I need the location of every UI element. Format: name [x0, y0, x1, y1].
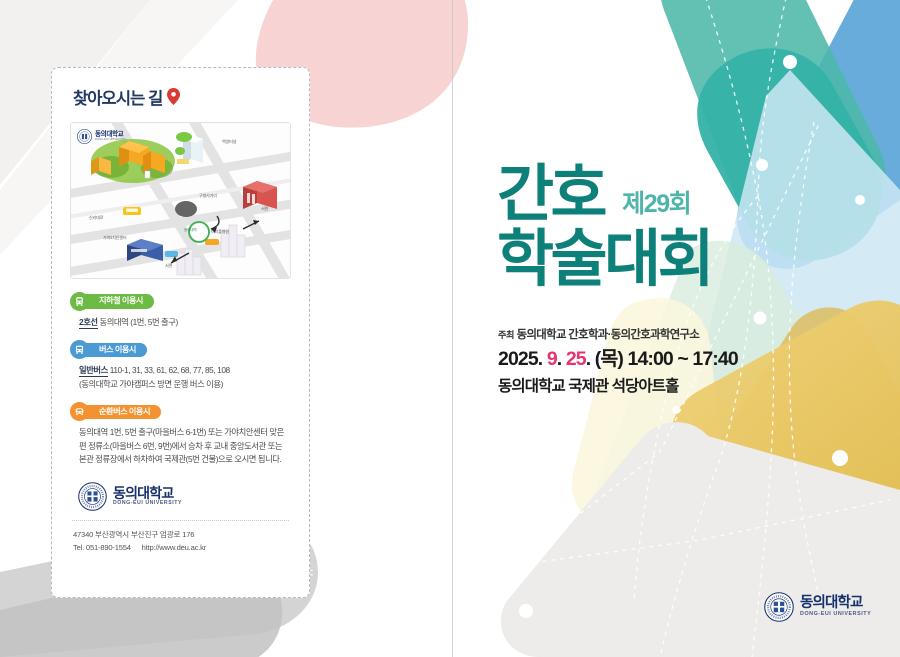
directions-title-text: 찾아오시는 길: [73, 91, 162, 108]
map-university-logo: 동의대학교 DONG-EUI UNIVERSITY: [77, 129, 126, 144]
transit-bus-note: (동의대학교 가야캠퍼스 방면 운행 버스 이용): [79, 378, 291, 391]
cover-title-line2: 학술대회: [497, 228, 827, 291]
cover-date-day: 25: [566, 348, 586, 370]
map-logo-en: DONG-EUI UNIVERSITY: [95, 138, 126, 141]
directions-card: 찾아오시는 길: [51, 67, 310, 598]
map-label-seomyeon-1: 서면: [261, 206, 268, 212]
panel-footer: 동의대학교 DONG-EUI UNIVERSITY 47340 부산광역시 부산…: [70, 482, 291, 554]
cover-title-row: 간호 제29회: [497, 165, 827, 226]
footer-university-logo: 동의대학교 DONG-EUI UNIVERSITY: [78, 482, 291, 511]
map-label-gaya-center: 가야1치안센터: [103, 235, 126, 241]
cover-date-line: 2025. 9. 25. (목) 14:00 ~ 17:40: [498, 350, 858, 370]
transit-subway: 지하철 이용시 2호선 동의대역 (1번, 5: [70, 292, 291, 329]
subway-icon: [70, 292, 89, 311]
cover-panel: 간호 제29회 학술대회 주최 동의대학교 간호학과·동의간호과학연구소 202…: [452, 0, 900, 657]
transit-bus-type: 일반버스: [79, 365, 108, 377]
transit-bus: 버스 이용시 일반버스 110-1, 31,: [70, 340, 291, 391]
cover-title-line1: 간호: [497, 165, 604, 226]
location-pin-icon: [167, 88, 180, 110]
map-label-sillaro: 신라대로: [89, 215, 103, 221]
location-map[interactable]: 동의대학교 DONG-EUI UNIVERSITY 백양터널 구청사거리 서면 …: [70, 122, 291, 279]
footer-website[interactable]: http://www.deu.ac.kr: [142, 543, 206, 552]
university-seal-icon: [77, 129, 92, 144]
map-label-dongeui-station: 동의대역: [184, 228, 196, 233]
transit-shuttle: 순환버스 이용시 동의대역 1번, 5번 출구(마을버스 6-1번): [70, 402, 291, 466]
cover-host-line: 주최 동의대학교 간호학과·동의간호과학연구소: [498, 330, 858, 341]
cover-title: 간호 제29회 학술대회: [497, 165, 827, 291]
transit-subway-body: 2호선 동의대역 (1번, 5번 출구): [79, 316, 291, 329]
footer-address: 47340 부산광역시 부산진구 엄광로 176: [73, 528, 291, 541]
transit-subway-header: 지하철 이용시: [70, 292, 291, 311]
transit-bus-numbers: 110-1, 31, 33, 61, 62, 68, 77, 85, 108: [108, 365, 230, 375]
cover-venue: 동의대학교 국제관 석당아트홀: [498, 379, 858, 395]
cover-logo-ko: 동의대학교: [800, 596, 871, 611]
transit-subway-line: 2호선: [79, 317, 98, 329]
cover-date-suffix: . (목) 14:00 ~ 17:40: [586, 348, 738, 370]
footer-contact-line: Tel. 051-890-1554 http://www.deu.ac.kr: [73, 541, 291, 554]
cover-date-prefix: 2025.: [498, 348, 547, 370]
transit-shuttle-badge: 순환버스 이용시: [77, 405, 161, 420]
transit-shuttle-header: 순환버스 이용시: [70, 402, 291, 421]
brochure-page: 찾아오시는 길: [0, 0, 900, 657]
footer-logo-ko: 동의대학교: [113, 486, 182, 501]
transit-subway-detail: 동의대역 (1번, 5번 출구): [98, 317, 178, 327]
directions-title: 찾아오시는 길: [73, 88, 291, 110]
transit-sections: 지하철 이용시 2호선 동의대역 (1번, 5: [70, 292, 291, 467]
cover-edition: 제29회: [622, 192, 690, 226]
cover-host-name: 동의대학교 간호학과·동의간호과학연구소: [517, 329, 700, 341]
transit-subway-badge-text: 지하철 이용시: [99, 297, 143, 305]
university-seal-icon: [78, 482, 107, 511]
map-label-baekyang: 백양터널: [222, 139, 236, 145]
cover-university-logo: 동의대학교 DONG-EUI UNIVERSITY: [764, 592, 871, 622]
map-label-hospital: 미리폴병원: [211, 229, 229, 235]
transit-bus-body: 일반버스 110-1, 31, 33, 61, 62, 68, 77, 85, …: [79, 364, 291, 391]
cover-date-month: 9: [547, 348, 557, 370]
footer-logo-en: DONG-EUI UNIVERSITY: [113, 500, 182, 506]
footer-tel: Tel. 051-890-1554: [73, 543, 131, 552]
footer-address-block: 47340 부산광역시 부산진구 엄광로 176 Tel. 051-890-15…: [73, 528, 291, 554]
transit-bus-header: 버스 이용시: [70, 340, 291, 359]
map-graphic: [71, 123, 291, 279]
cover-host-tag: 주최: [498, 330, 514, 340]
cover-logo-en: DONG-EUI UNIVERSITY: [800, 611, 871, 617]
university-seal-icon: [764, 592, 794, 622]
footer-divider: [72, 520, 289, 521]
transit-shuttle-body: 동의대역 1번, 5번 출구(마을버스 6-1번) 또는 가야치안센터 맞은 편…: [79, 426, 291, 466]
transit-shuttle-badge-text: 순환버스 이용시: [99, 408, 150, 416]
transit-bus-badge-text: 버스 이용시: [99, 346, 136, 354]
cover-date-sep: .: [557, 348, 566, 370]
cover-info: 주최 동의대학교 간호학과·동의간호과학연구소 2025. 9. 25. (목)…: [498, 330, 858, 394]
map-label-gucheong: 구청사거리: [199, 193, 217, 199]
map-label-seomyeon-2: 서면: [165, 263, 172, 269]
